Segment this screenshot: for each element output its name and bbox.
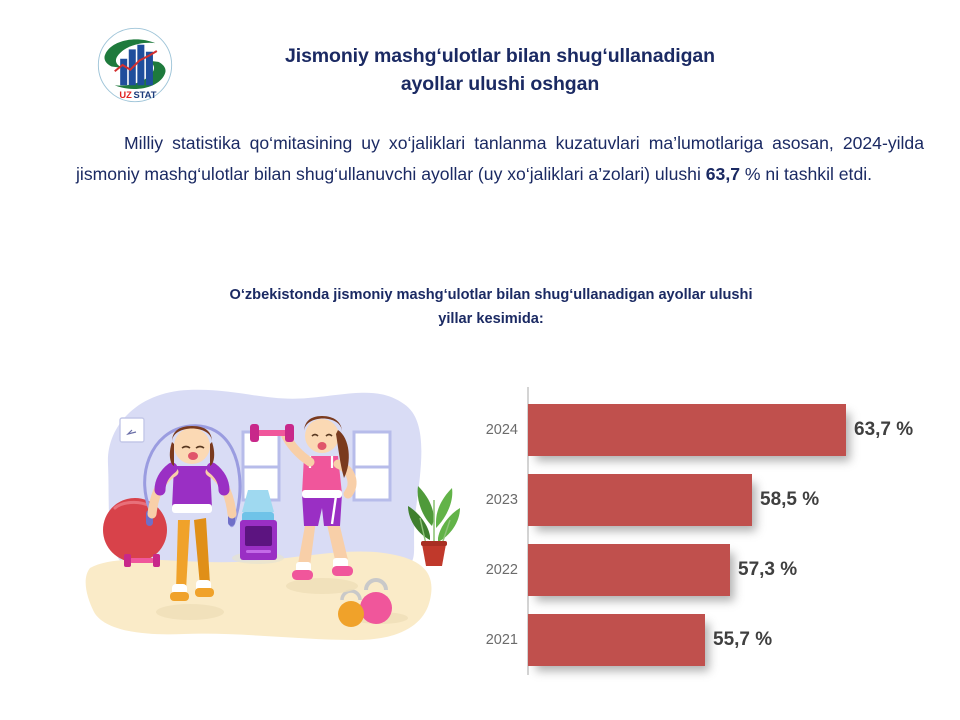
table-row: 2021 55,7 % xyxy=(462,614,942,666)
page-title-line-2: ayollar ulushi oshgan xyxy=(190,70,810,98)
bar-2021 xyxy=(528,614,705,666)
bar-value-2024: 63,7 % xyxy=(854,404,913,456)
body-line-3-pre: ayollar (uy xo‘jaliklari a’zolari) ulush… xyxy=(421,164,706,184)
gym-women-illustration xyxy=(60,368,480,672)
kettlebell-pink xyxy=(360,592,392,624)
logo-text-uz: UZ xyxy=(119,90,132,100)
bar-category-label: 2022 xyxy=(462,544,518,596)
window-right xyxy=(354,432,390,500)
infographic-page: UZ STAT Jismoniy mashg‘ulotlar bilan shu… xyxy=(0,0,960,720)
kettlebell-orange xyxy=(338,601,364,627)
body-line-1: Milliy statistika qo‘mitasining uy xo‘ja… xyxy=(124,133,640,153)
body-highlight-value: 63,7 xyxy=(706,164,740,184)
uzstat-logo-graphic: UZ STAT xyxy=(96,26,174,104)
window-left xyxy=(243,432,279,500)
uzstat-logo: UZ STAT xyxy=(96,26,174,104)
bar-category-label: 2021 xyxy=(462,614,518,666)
logo-text-stat: STAT xyxy=(133,90,156,100)
body-line-3-post: % ni tashkil etdi. xyxy=(740,164,872,184)
bar-value-2023: 58,5 % xyxy=(760,474,819,526)
bar-category-label: 2023 xyxy=(462,474,518,526)
page-title-line-1: Jismoniy mashg‘ulotlar bilan shug‘ullana… xyxy=(190,42,810,70)
table-row: 2022 57,3 % xyxy=(462,544,942,596)
table-row: 2023 58,5 % xyxy=(462,474,942,526)
bar-2024 xyxy=(528,404,846,456)
logo-bar-3 xyxy=(137,45,144,86)
chart-caption-line-1: O‘zbekistonda jismoniy mashg‘ulotlar bil… xyxy=(96,283,886,307)
bar-value-2021: 55,7 % xyxy=(713,614,772,666)
bar-value-2022: 57,3 % xyxy=(738,544,797,596)
body-paragraph: Milliy statistika qo‘mitasining uy xo‘ja… xyxy=(76,128,924,190)
bar-2022 xyxy=(528,544,730,596)
page-title: Jismoniy mashg‘ulotlar bilan shug‘ullana… xyxy=(190,42,810,98)
logo-bar-1 xyxy=(120,59,127,86)
bar-chart: 2024 63,7 % 2023 58,5 % 2022 57,3 % 2021… xyxy=(462,384,942,676)
table-row: 2024 63,7 % xyxy=(462,404,942,456)
illustration-graphic xyxy=(60,368,480,672)
bar-2023 xyxy=(528,474,752,526)
chart-caption: O‘zbekistonda jismoniy mashg‘ulotlar bil… xyxy=(96,283,886,331)
chart-caption-line-2: yillar kesimida: xyxy=(96,307,886,331)
bar-category-label: 2024 xyxy=(462,404,518,456)
